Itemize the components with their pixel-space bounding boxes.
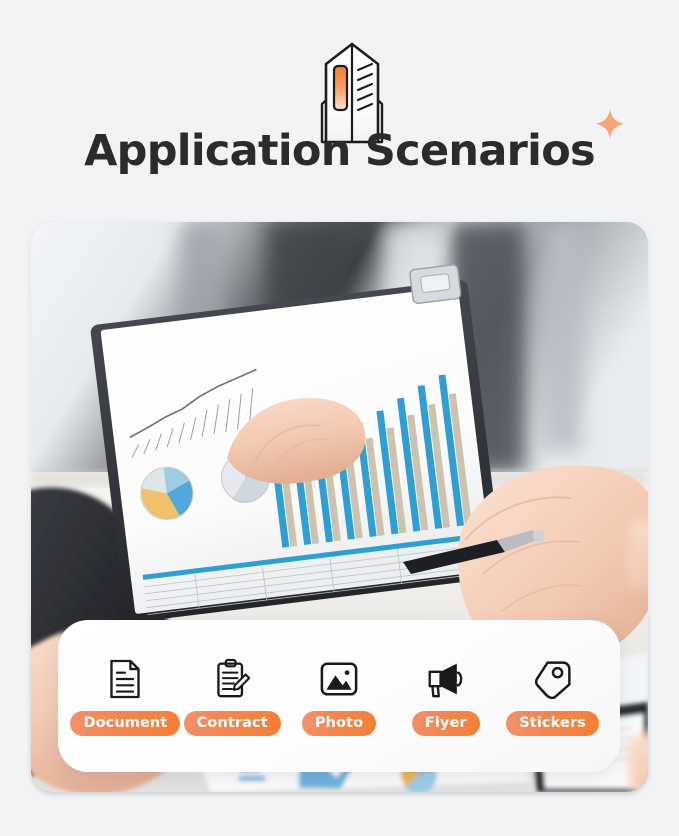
category-item-document[interactable]: Document <box>73 656 177 737</box>
category-item-contract[interactable]: Contract <box>180 656 284 737</box>
category-item-photo[interactable]: Photo <box>287 656 391 737</box>
megaphone-icon <box>425 656 467 702</box>
category-item-flyer[interactable]: Flyer <box>394 656 498 737</box>
price-tag-icon <box>533 656 573 702</box>
clipboard-pencil-icon <box>213 656 251 702</box>
category-item-stickers[interactable]: Stickers <box>501 656 605 737</box>
page-title-row: Application Scenarios <box>0 128 679 174</box>
category-pill-label: Contract <box>184 711 281 737</box>
image-picture-icon <box>319 656 359 702</box>
category-pill-label: Stickers <box>506 711 599 737</box>
application-categories-card: Document Contract <box>58 620 620 772</box>
category-pill-label: Flyer <box>412 711 480 737</box>
category-pill-label: Document <box>70 711 180 737</box>
document-page-icon <box>107 656 143 702</box>
page-title: Application Scenarios <box>84 126 595 176</box>
category-pill-label: Photo <box>302 711 376 737</box>
page-header: Application Scenarios <box>0 0 679 210</box>
sparkle-star-icon <box>595 108 625 140</box>
